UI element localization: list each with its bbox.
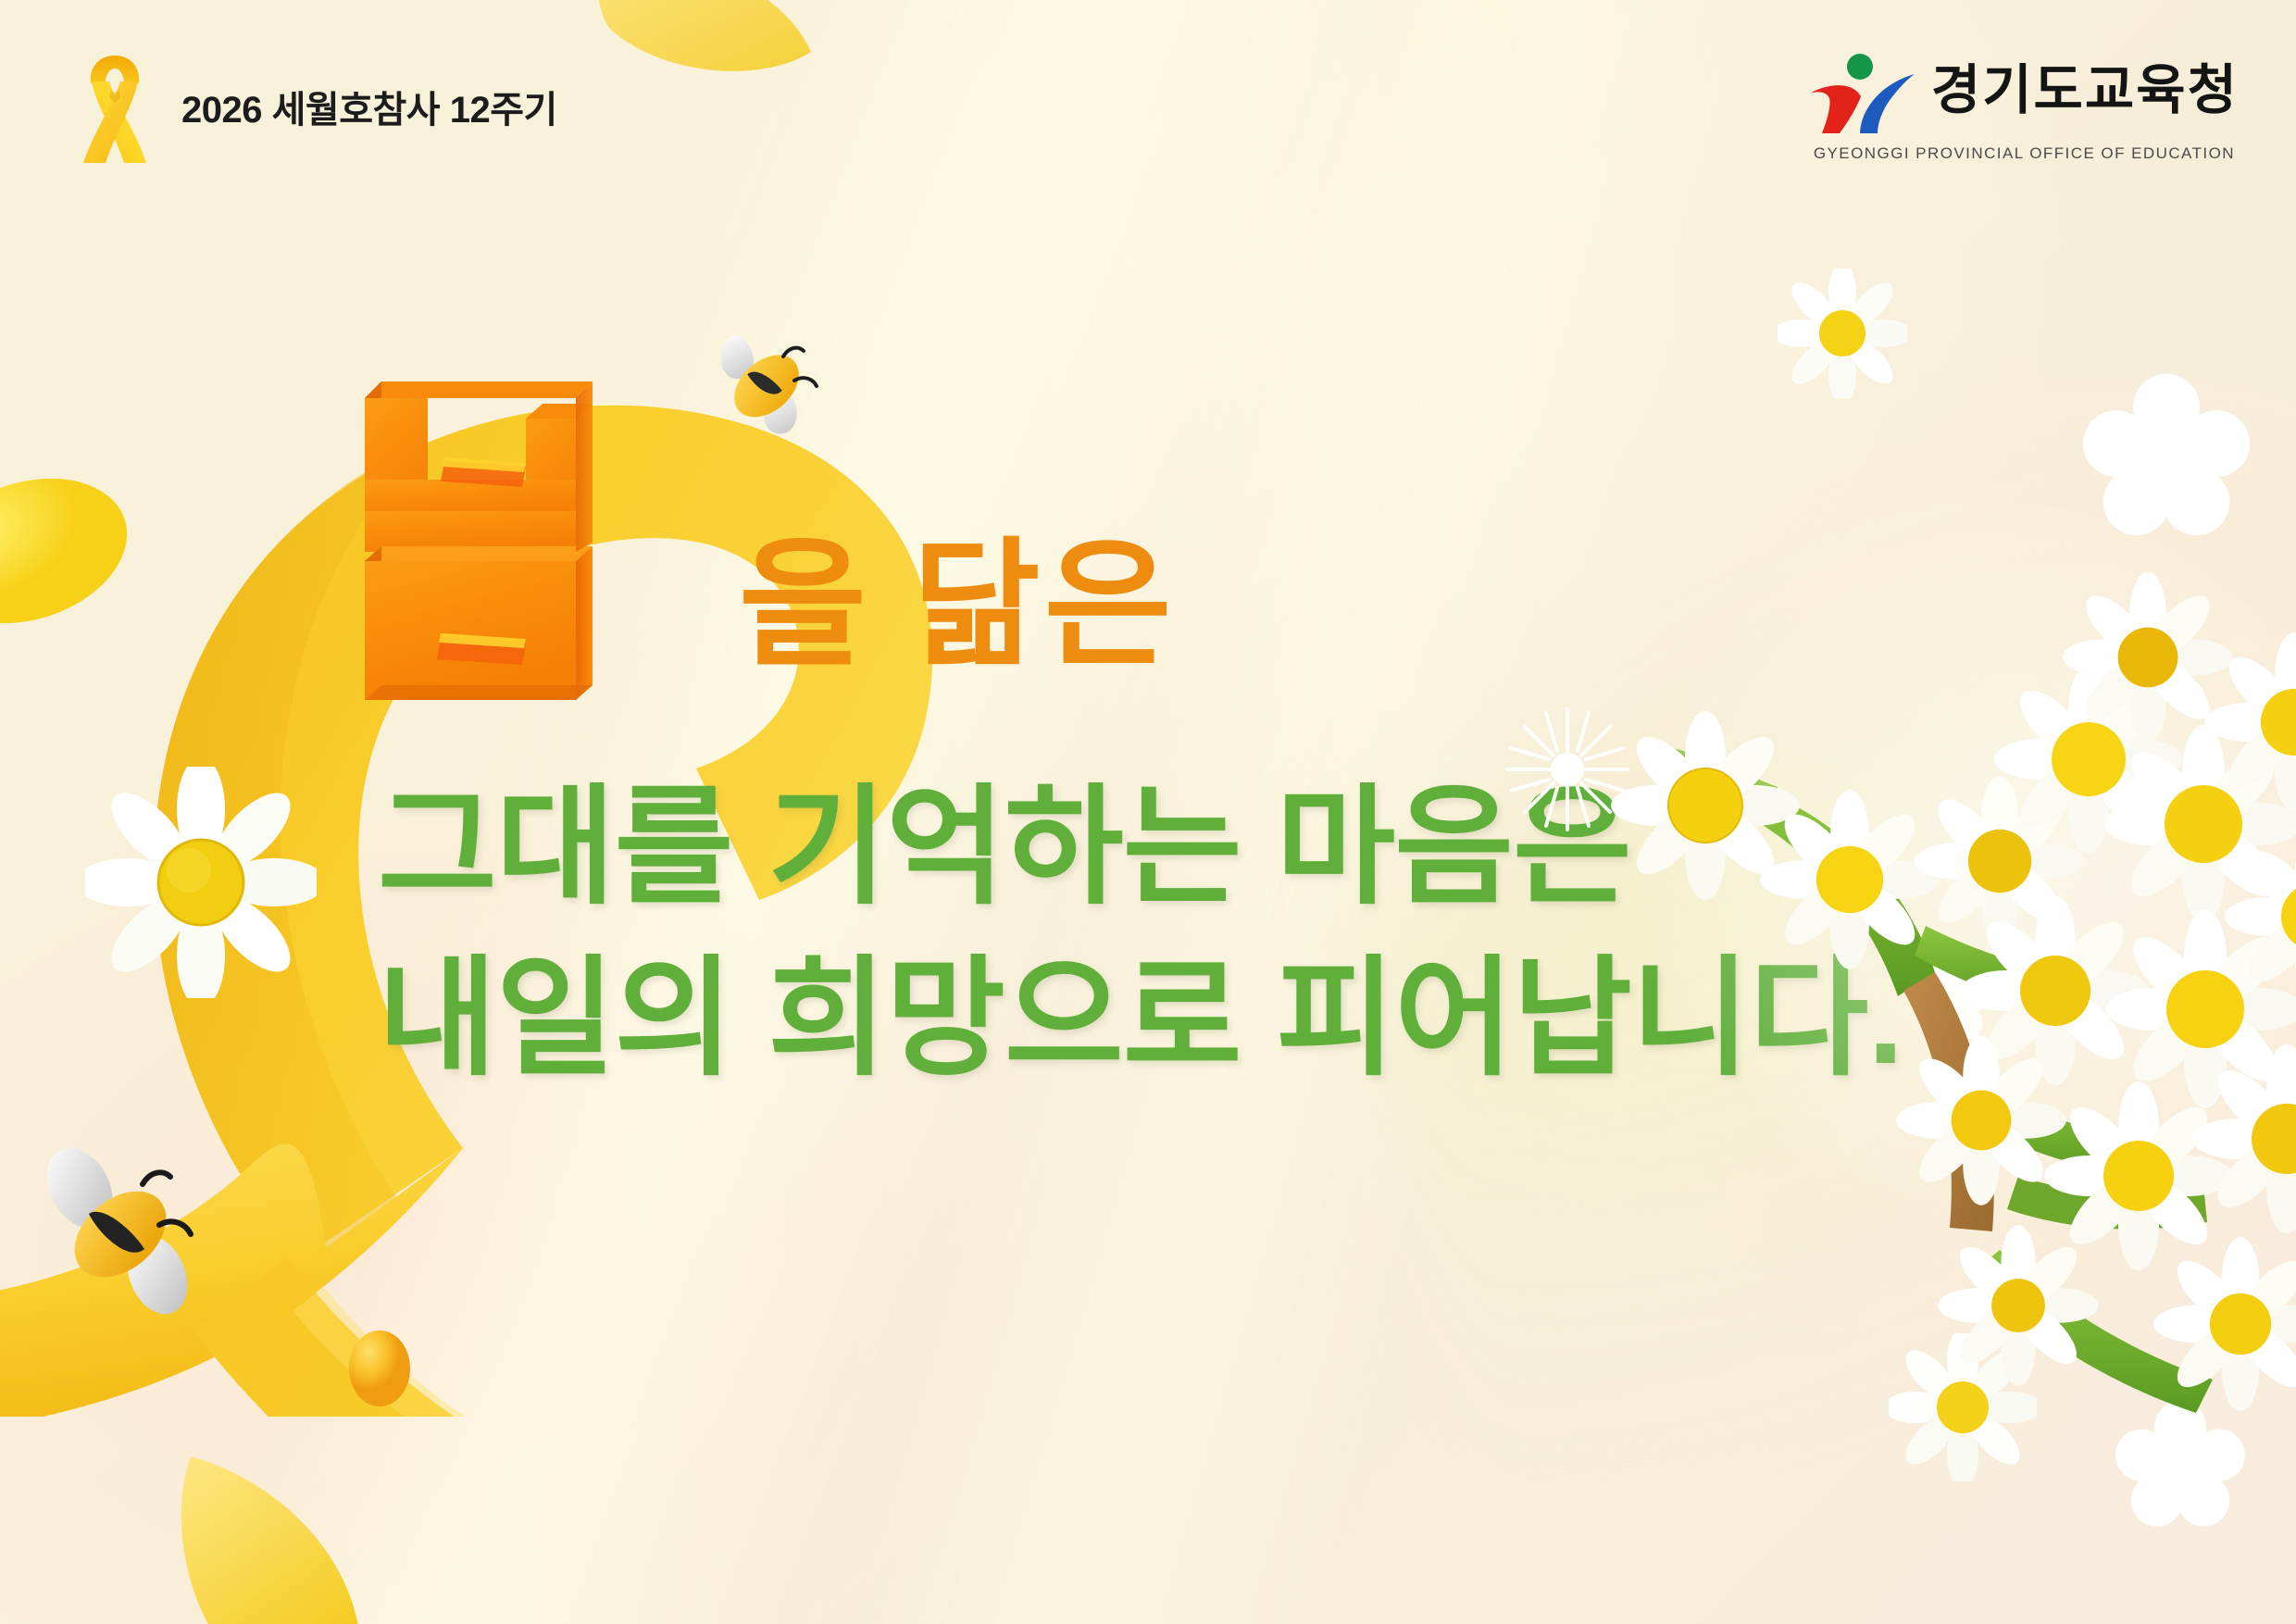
headline-block: 을 닮은 그대를 기억하는 마음은 내일의 희망으로 피어납니다. [0, 0, 2296, 1624]
headline-line-3: 내일의 희망으로 피어납니다. [378, 954, 1903, 1083]
poster-canvas: 2026 세월호참사 12주기 경기도교육청 GYEONGGI PROVINCI… [0, 0, 2296, 1624]
headline-line-2: 그대를 기억하는 마음은 [378, 782, 1631, 912]
headline-line-1: 을 닮은 [344, 370, 1176, 706]
headline-line-1-text: 을 닮은 [739, 535, 1176, 706]
bom-3d-character [344, 370, 715, 722]
